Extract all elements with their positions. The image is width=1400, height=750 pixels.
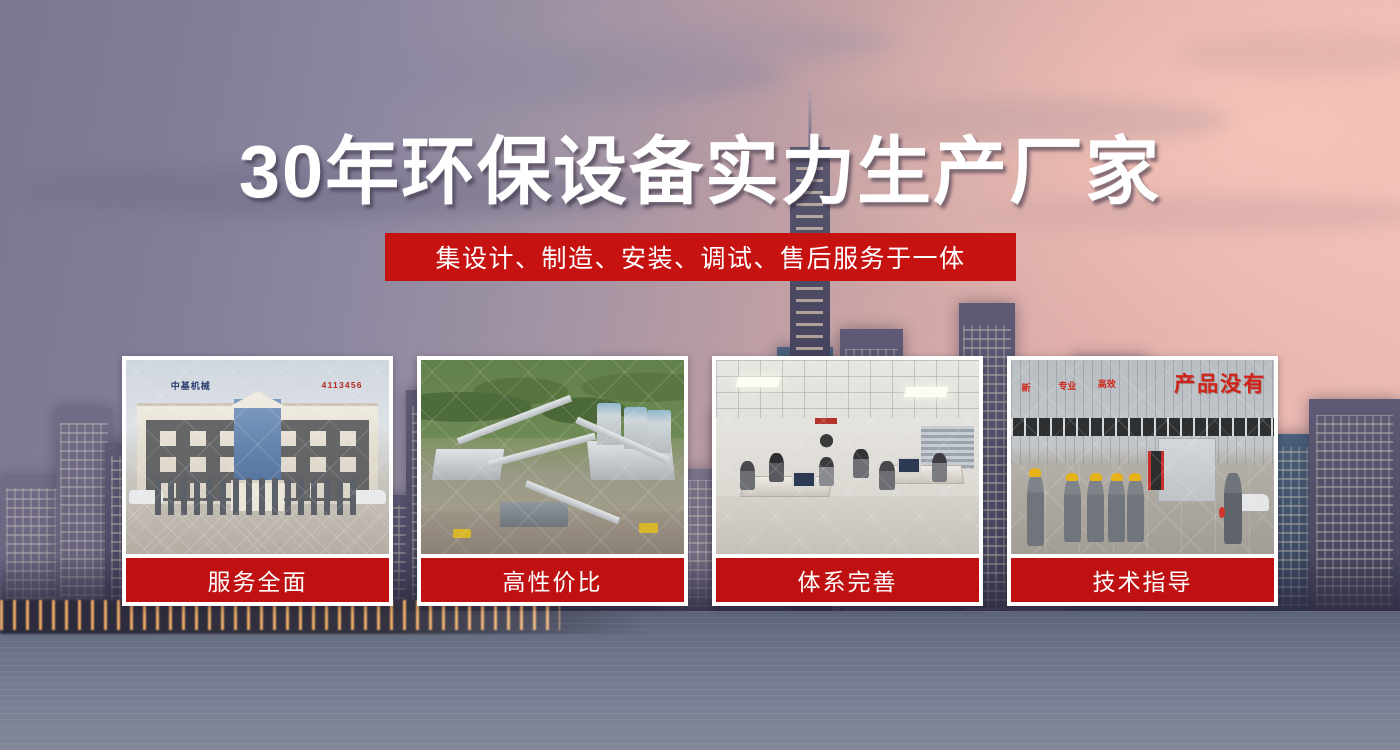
computer-monitor — [792, 471, 816, 488]
plant-shed — [500, 502, 568, 527]
excavator — [453, 529, 471, 539]
card-photo-office-interior — [716, 360, 979, 554]
factory-worker — [1127, 478, 1144, 542]
factory-worker — [1087, 478, 1104, 542]
card-photo-industrial-plant — [421, 360, 684, 554]
page-title: 30年环保设备实力生产厂家 — [0, 133, 1400, 211]
card-caption-text: 体系完善 — [798, 563, 898, 597]
conveyor — [488, 432, 597, 467]
factory-worker — [1064, 478, 1081, 542]
computer-monitor — [897, 457, 921, 474]
feature-card[interactable]: 体系完善 — [712, 356, 983, 606]
side-door — [1148, 451, 1164, 490]
feature-card[interactable]: 产品没有 新 专业 高效 技术指导 — [1007, 356, 1278, 606]
card-caption-bar: 高性价比 — [421, 558, 684, 602]
staff-row — [152, 478, 362, 515]
card-caption-bar: 体系完善 — [716, 558, 979, 602]
promo-banner: 30年环保设备实力生产厂家 集设计、制造、安装、调试、售后服务于一体 中基机械 … — [0, 0, 1400, 750]
supervisor — [1224, 473, 1242, 545]
factory-sign-text: 产品没有 — [1174, 368, 1266, 398]
office-worker — [769, 453, 785, 482]
card-caption-bar: 技术指导 — [1011, 558, 1274, 602]
feature-card[interactable]: 高性价比 — [417, 356, 688, 606]
subtitle-banner: 集设计、制造、安装、调试、售后服务于一体 — [385, 233, 1016, 281]
office-worker — [740, 461, 756, 490]
card-photo-office-building: 中基机械 4113456 — [126, 360, 389, 554]
roller-shutter-door — [1158, 438, 1216, 502]
card-photo-factory-workers: 产品没有 新 专业 高效 — [1011, 360, 1274, 554]
card-caption-text: 技术指导 — [1093, 563, 1193, 597]
card-caption-text: 高性价比 — [503, 563, 603, 597]
factory-worker — [1108, 478, 1125, 542]
factory-window-strip — [1011, 418, 1274, 435]
feature-card[interactable]: 中基机械 4113456 服务全面 — [122, 356, 393, 606]
office-worker — [853, 449, 869, 478]
ceiling-light — [736, 377, 780, 387]
office-worker — [879, 461, 895, 490]
wall-decal — [808, 424, 845, 451]
office-floor — [716, 496, 979, 554]
office-window-blinds — [921, 426, 974, 469]
subtitle-text: 集设计、制造、安装、调试、售后服务于一体 — [435, 239, 965, 275]
card-caption-bar: 服务全面 — [126, 558, 389, 602]
office-desk — [883, 465, 965, 484]
office-worker — [819, 457, 835, 486]
factory-slogan-text: 新 — [1022, 383, 1031, 393]
cloud — [588, 23, 896, 61]
card-caption-text: 服务全面 — [208, 563, 308, 597]
ceiling-light — [904, 387, 948, 397]
factory-slogan-text: 专业 — [1058, 381, 1076, 391]
factory-worker — [1027, 474, 1044, 546]
feature-card-list: 中基机械 4113456 服务全面 — [122, 356, 1278, 606]
office-worker — [932, 453, 948, 482]
silo — [647, 410, 671, 453]
building-sign-text: 中基机械 — [171, 379, 211, 392]
building-phone-text: 4113456 — [322, 380, 363, 390]
excavator — [639, 523, 657, 533]
factory-slogan-text: 高效 — [1098, 379, 1116, 389]
